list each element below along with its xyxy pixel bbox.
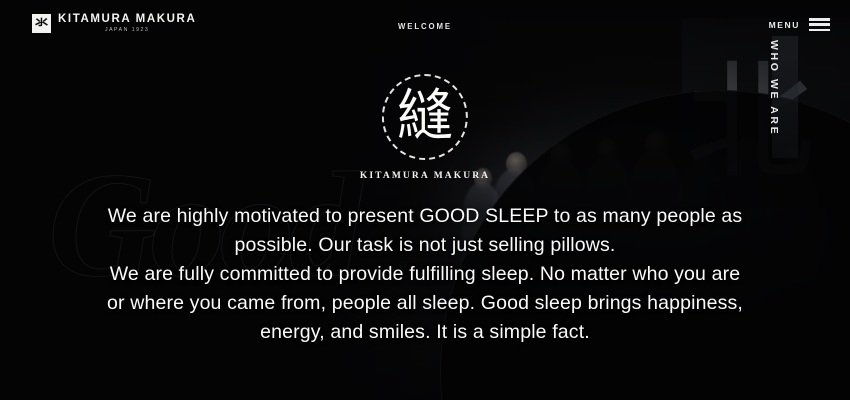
menu-button[interactable]: MENU bbox=[769, 18, 830, 31]
emblem-caption: KITAMURA MAKURA bbox=[360, 171, 490, 181]
welcome-label: WELCOME bbox=[0, 22, 850, 31]
menu-label: MENU bbox=[769, 20, 800, 30]
mission-paragraph-2: We are fully committed to provide fulfil… bbox=[105, 260, 745, 347]
who-we-are-label[interactable]: WHO WE ARE bbox=[766, 40, 782, 160]
center-emblem: 縫 KITAMURA MAKURA bbox=[360, 74, 490, 181]
emblem-circle: 縫 bbox=[382, 74, 468, 160]
emblem-kanji-icon: 縫 bbox=[397, 89, 453, 145]
mission-paragraph-1: We are highly motivated to present GOOD … bbox=[105, 202, 745, 260]
mission-statement: We are highly motivated to present GOOD … bbox=[105, 202, 745, 347]
hamburger-icon[interactable] bbox=[809, 18, 830, 31]
hero-section: 北 Good WHO WE ARE 氺 KITAMURA MAKURA JAPA… bbox=[0, 0, 850, 400]
site-header: 氺 KITAMURA MAKURA JAPAN 1923 WELCOME MEN… bbox=[0, 0, 850, 46]
